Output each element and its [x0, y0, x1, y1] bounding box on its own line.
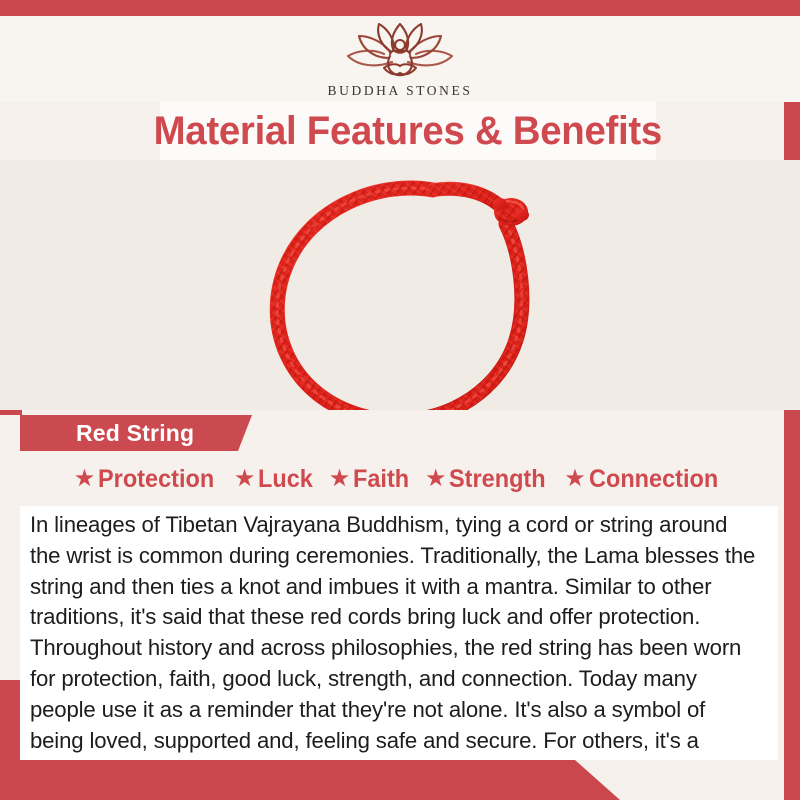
- benefit-label: Strength: [449, 465, 546, 494]
- star-icon: ★: [74, 467, 96, 491]
- brand-header: BUDDHA STONES: [0, 16, 800, 102]
- benefits-row: ★ Protection ★ Luck ★ Faith ★ Strength ★…: [22, 458, 778, 500]
- benefit-item: ★ Faith: [329, 465, 413, 494]
- frame-bottom-accent-bar: [0, 760, 620, 800]
- lotus-meditation-icon: [334, 18, 466, 82]
- benefit-item: ★ Luck: [234, 465, 317, 494]
- product-photo-area: [0, 160, 800, 410]
- description-text: In lineages of Tibetan Vajrayana Buddhis…: [26, 510, 767, 787]
- star-icon: ★: [425, 467, 447, 491]
- star-icon: ★: [564, 467, 586, 491]
- brand-wordmark: BUDDHA STONES: [328, 83, 473, 99]
- benefit-item: ★ Connection: [564, 465, 726, 494]
- bracelet-knot: [493, 198, 529, 226]
- benefit-label: Faith: [353, 465, 409, 494]
- benefit-item: ★ Strength: [425, 465, 552, 494]
- description-panel: In lineages of Tibetan Vajrayana Buddhis…: [20, 506, 778, 760]
- benefit-label: Connection: [589, 465, 718, 494]
- benefit-item: ★ Protection: [74, 465, 222, 494]
- infographic-poster: BUDDHA STONES Material Features & Benefi…: [0, 0, 800, 800]
- benefit-label: Protection: [98, 465, 214, 494]
- material-label: Red String: [76, 420, 194, 447]
- star-icon: ★: [234, 467, 256, 491]
- star-icon: ★: [329, 467, 351, 491]
- benefit-label: Luck: [258, 465, 313, 494]
- frame-top-border: [0, 0, 800, 16]
- material-label-banner: Red String: [20, 415, 252, 451]
- page-title: Material Features & Benefits: [154, 109, 662, 154]
- red-string-bracelet-image: [228, 168, 576, 410]
- title-banner: Material Features & Benefits: [160, 102, 656, 160]
